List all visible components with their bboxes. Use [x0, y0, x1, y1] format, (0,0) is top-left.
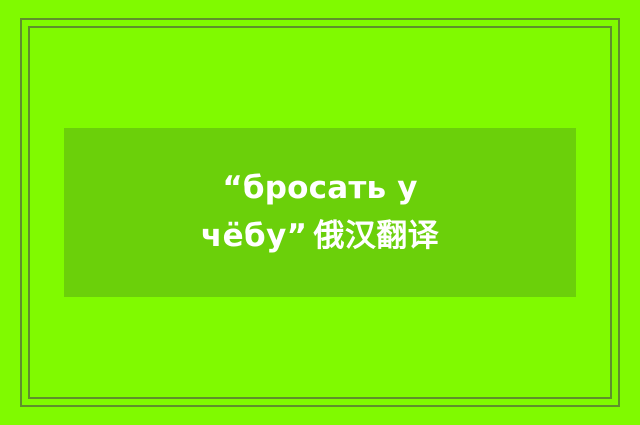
- caption-cyrillic-text: чёбу”: [201, 218, 308, 254]
- caption-cjk-text: 俄汉翻译: [307, 218, 439, 254]
- caption-panel: “бросать у чёбу”俄汉翻译: [64, 128, 576, 297]
- caption-line-1: “бросать у: [222, 165, 417, 212]
- slide-canvas: “бросать у чёбу”俄汉翻译: [0, 0, 640, 425]
- caption-line-2: чёбу”俄汉翻译: [201, 213, 439, 260]
